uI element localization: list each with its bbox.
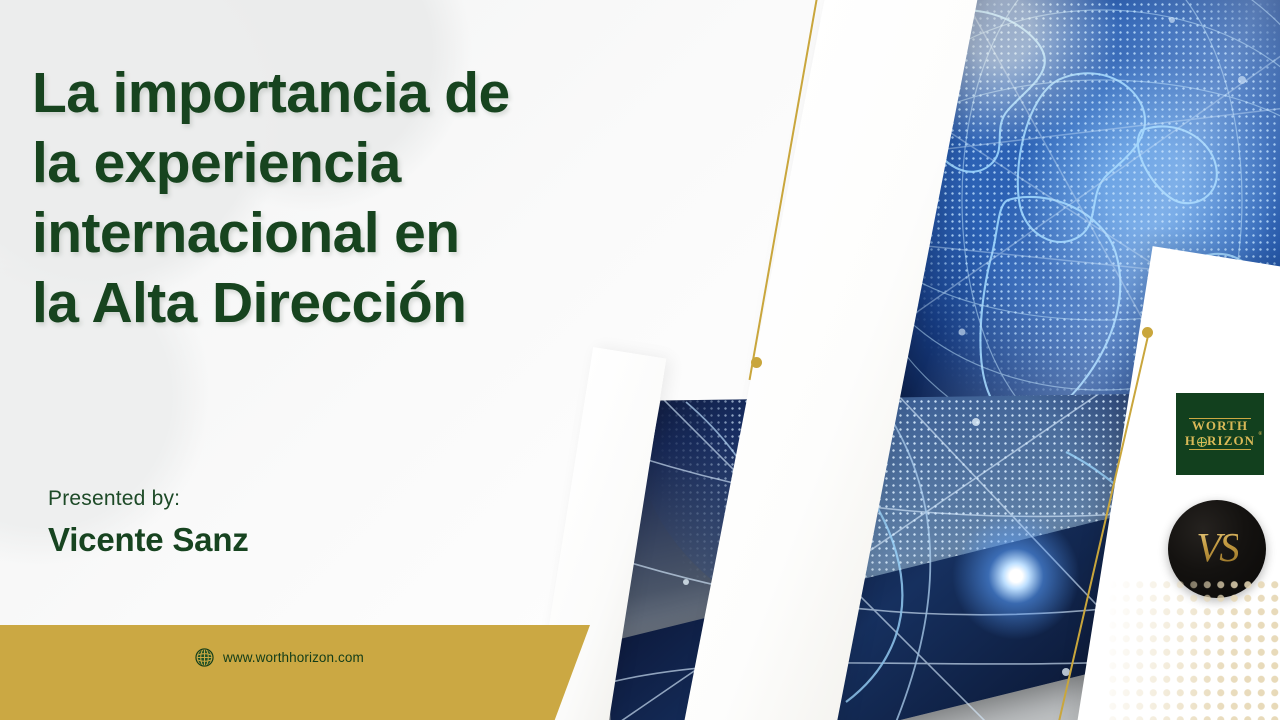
presenter-block: Presented by: Vicente Sanz — [48, 487, 249, 559]
globe-icon — [195, 648, 214, 667]
logo-rule-bottom — [1189, 449, 1251, 450]
tablet-light-flare — [941, 501, 1091, 651]
worth-horizon-logo[interactable]: WORTH H RIZON ® — [1176, 393, 1264, 475]
page-title: La importancia de la experiencia interna… — [32, 58, 742, 338]
footer-url-text[interactable]: www.worthhorizon.com — [223, 650, 364, 665]
title-block: La importancia de la experiencia interna… — [32, 58, 742, 338]
footer-content: www.worthhorizon.com — [195, 648, 364, 667]
presenter-name: Vicente Sanz — [48, 521, 249, 559]
logo-trademark-mark: ® — [1258, 432, 1263, 438]
presentation-slide: La importancia de la experiencia interna… — [0, 0, 1280, 720]
vs-monogram-text: VS — [1196, 523, 1238, 571]
decorative-dot-grid — [1106, 578, 1280, 720]
gold-accent-dot-lower — [1142, 327, 1153, 338]
footer-bar — [0, 625, 590, 720]
logo-globe-o-icon — [1197, 437, 1207, 447]
logo-horizon-prefix: H — [1185, 434, 1196, 449]
logo-horizon-suffix: RIZON — [1207, 434, 1255, 449]
presented-by-label: Presented by: — [48, 487, 249, 511]
gold-accent-dot-upper — [751, 357, 762, 368]
logo-word-worth: WORTH — [1192, 419, 1248, 434]
logo-word-horizon: H RIZON ® — [1185, 434, 1255, 449]
